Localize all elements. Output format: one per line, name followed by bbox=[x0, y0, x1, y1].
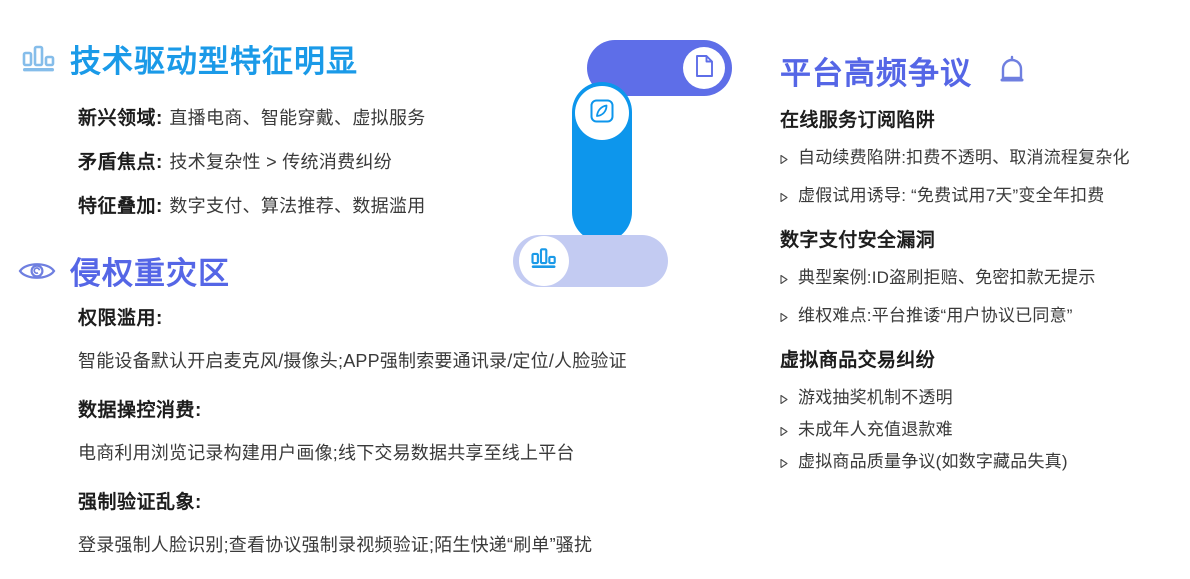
dispute-group: 数字支付安全漏洞 典型案例:ID盗刷拒赔、免密扣款无提示 维权难点:平台推诿“用… bbox=[780, 225, 1190, 327]
list-item-text: 虚拟商品质量争议(如数字藏品失真) bbox=[798, 452, 1068, 472]
definition-desc: 数字支付、算法推荐、数据滥用 bbox=[169, 192, 425, 218]
edit-note-icon bbox=[589, 98, 615, 129]
dispute-group: 虚拟商品交易纠纷 游戏抽奖机制不透明 未成年人充值退款难 bbox=[780, 345, 1190, 473]
bar-chart-icon-badge bbox=[519, 236, 569, 286]
block-body: 智能设备默认开启麦克风/摄像头;APP强制索要通讯录/定位/人脸验证 bbox=[78, 347, 738, 373]
definition-desc: 技术复杂性 > 传统消费纠纷 bbox=[169, 148, 392, 174]
definition-row: 特征叠加 : 数字支付、算法推荐、数据滥用 bbox=[78, 191, 548, 218]
definition-colon: : bbox=[156, 152, 162, 174]
document-icon bbox=[694, 54, 715, 83]
list-item: 典型案例:ID盗刷拒赔、免密扣款无提示 bbox=[780, 268, 1190, 288]
list-item-text: 维权难点:平台推诿“用户协议已同意” bbox=[798, 306, 1073, 326]
section-header-platform: 平台高频争议 bbox=[780, 48, 1028, 93]
eye-icon bbox=[18, 258, 56, 284]
left-column: 技术驱动型特征明显 新兴领域 : 直播电商、智能穿戴、虚拟服务 矛盾焦点 : 技… bbox=[0, 0, 560, 577]
dispute-group: 在线服务订阅陷阱 自动续费陷阱:扣费不透明、取消流程复杂化 虚假试用诱导: “免… bbox=[780, 105, 1190, 207]
infringement-block: 权限滥用: 智能设备默认开启麦克风/摄像头;APP强制索要通讯录/定位/人脸验证 bbox=[78, 303, 738, 373]
definition-colon: : bbox=[156, 108, 162, 130]
triangle-bullet-icon bbox=[780, 313, 792, 322]
list-item: 未成年人充值退款难 bbox=[780, 420, 1190, 440]
triangle-bullet-icon bbox=[780, 459, 792, 468]
list-item: 游戏抽奖机制不透明 bbox=[780, 388, 1190, 408]
infographic-canvas: 技术驱动型特征明显 新兴领域 : 直播电商、智能穿戴、虚拟服务 矛盾焦点 : 技… bbox=[0, 0, 1190, 577]
block-title: 强制验证乱象: bbox=[78, 487, 738, 514]
section-title-tech: 技术驱动型特征明显 bbox=[70, 36, 358, 81]
center-decorative-graphic bbox=[505, 20, 695, 310]
group-title: 虚拟商品交易纠纷 bbox=[780, 345, 1190, 372]
section-header-tech: 技术驱动型特征明显 bbox=[22, 36, 358, 81]
bell-icon bbox=[996, 54, 1028, 88]
list-item: 虚拟商品质量争议(如数字藏品失真) bbox=[780, 452, 1190, 472]
bar-chart-icon bbox=[22, 44, 56, 74]
document-icon-badge bbox=[683, 47, 725, 89]
definition-term: 矛盾焦点 bbox=[78, 147, 156, 174]
list-item: 自动续费陷阱:扣费不透明、取消流程复杂化 bbox=[780, 148, 1190, 168]
definition-row: 新兴领域 : 直播电商、智能穿戴、虚拟服务 bbox=[78, 103, 548, 130]
bar-chart-icon bbox=[531, 247, 557, 275]
triangle-bullet-icon bbox=[780, 395, 792, 404]
block-title: 数据操控消费: bbox=[78, 395, 738, 422]
tech-definition-list: 新兴领域 : 直播电商、智能穿戴、虚拟服务 矛盾焦点 : 技术复杂性 > 传统消… bbox=[78, 103, 548, 235]
edit-note-icon-badge bbox=[575, 86, 629, 140]
triangle-bullet-icon bbox=[780, 275, 792, 284]
platform-dispute-groups: 在线服务订阅陷阱 自动续费陷阱:扣费不透明、取消流程复杂化 虚假试用诱导: “免… bbox=[780, 105, 1190, 485]
list-item-text: 游戏抽奖机制不透明 bbox=[798, 388, 953, 408]
definition-term: 新兴领域 bbox=[78, 103, 156, 130]
section-header-infringement: 侵权重灾区 bbox=[18, 248, 230, 293]
section-title-platform: 平台高频争议 bbox=[780, 48, 972, 93]
triangle-bullet-icon bbox=[780, 193, 792, 202]
definition-desc: 直播电商、智能穿戴、虚拟服务 bbox=[169, 104, 425, 130]
list-item-text: 虚假试用诱导: “免费试用7天”变全年扣费 bbox=[798, 186, 1104, 206]
right-column: 平台高频争议 在线服务订阅陷阱 自动续费陷阱:扣费不透明、取消流程复杂化 bbox=[778, 0, 1190, 577]
group-title: 在线服务订阅陷阱 bbox=[780, 105, 1190, 132]
list-item: 维权难点:平台推诿“用户协议已同意” bbox=[780, 306, 1190, 326]
list-item-text: 典型案例:ID盗刷拒赔、免密扣款无提示 bbox=[798, 268, 1096, 288]
group-title: 数字支付安全漏洞 bbox=[780, 225, 1190, 252]
block-body: 登录强制人脸识别;查看协议强制录视频验证;陌生快递“刷单”骚扰 bbox=[78, 531, 738, 557]
block-body: 电商利用浏览记录构建用户画像;线下交易数据共享至线上平台 bbox=[78, 439, 738, 465]
triangle-bullet-icon bbox=[780, 427, 792, 436]
list-item-text: 自动续费陷阱:扣费不透明、取消流程复杂化 bbox=[798, 148, 1130, 168]
definition-row: 矛盾焦点 : 技术复杂性 > 传统消费纠纷 bbox=[78, 147, 548, 174]
list-item-text: 未成年人充值退款难 bbox=[798, 420, 953, 440]
triangle-bullet-icon bbox=[780, 155, 792, 164]
list-item: 虚假试用诱导: “免费试用7天”变全年扣费 bbox=[780, 186, 1190, 206]
infringement-block: 数据操控消费: 电商利用浏览记录构建用户画像;线下交易数据共享至线上平台 bbox=[78, 395, 738, 465]
definition-colon: : bbox=[156, 196, 162, 218]
infringement-block: 强制验证乱象: 登录强制人脸识别;查看协议强制录视频验证;陌生快递“刷单”骚扰 bbox=[78, 487, 738, 557]
infringement-blocks: 权限滥用: 智能设备默认开启麦克风/摄像头;APP强制索要通讯录/定位/人脸验证… bbox=[78, 303, 738, 579]
definition-term: 特征叠加 bbox=[78, 191, 156, 218]
section-title-infringement: 侵权重灾区 bbox=[70, 248, 230, 293]
